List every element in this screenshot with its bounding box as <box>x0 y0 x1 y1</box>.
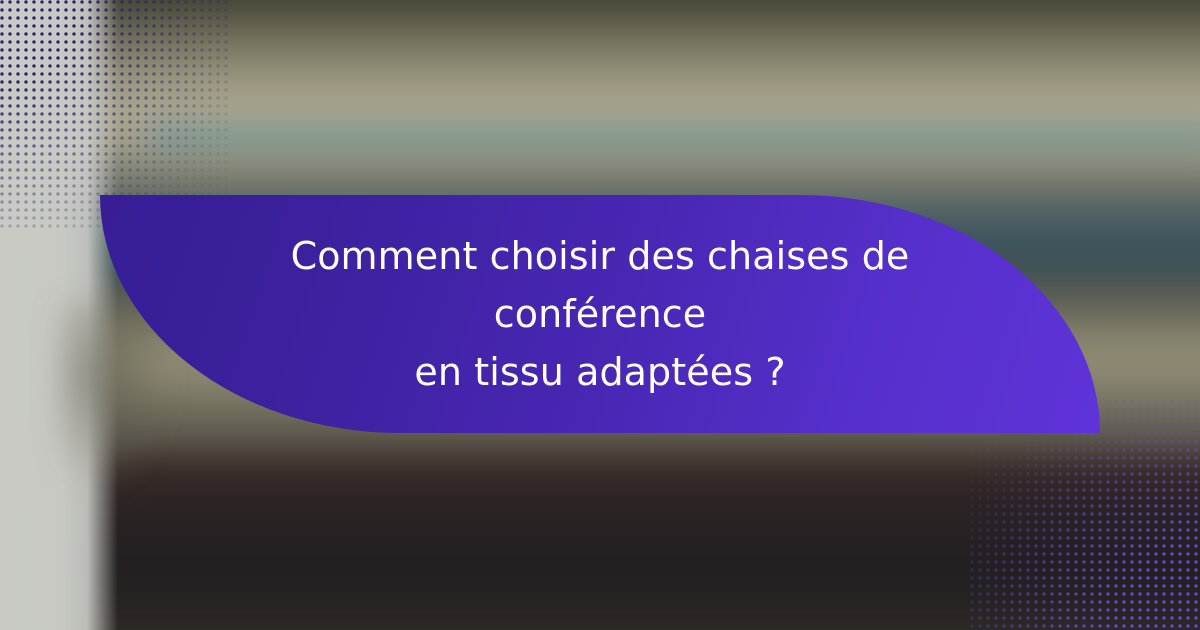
background-teal-band <box>150 118 1200 158</box>
title-banner-inner: Comment choisir des chaises de conférenc… <box>210 227 990 401</box>
cover-card: Comment choisir des chaises de conférenc… <box>0 0 1200 630</box>
page-title: Comment choisir des chaises de conférenc… <box>210 227 990 401</box>
halftone-dots-bottom-right <box>970 400 1200 630</box>
title-banner: Comment choisir des chaises de conférenc… <box>100 195 1100 433</box>
